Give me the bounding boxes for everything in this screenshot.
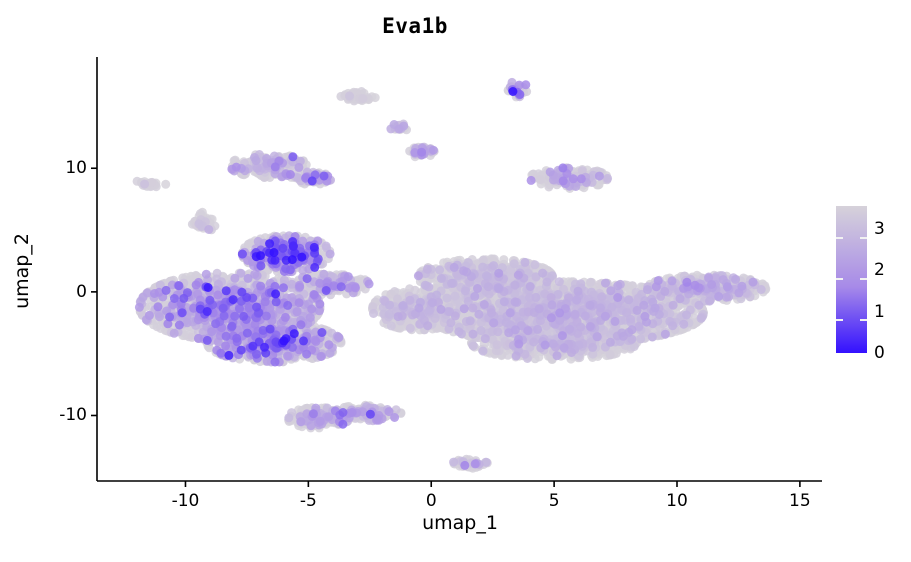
x-tick-label-3: 5 <box>549 491 560 511</box>
x-tick-label-0: -10 <box>172 491 200 511</box>
colorbar-tick-1 <box>836 319 843 321</box>
expression-colorbar <box>836 206 867 353</box>
y-tick-label-1: 0 <box>31 282 87 302</box>
x-tick-label-1: -5 <box>300 491 317 511</box>
colorbar-tick-3 <box>836 237 843 239</box>
scatter-points-layer <box>133 78 771 473</box>
colorbar-label-0: 0 <box>874 343 885 363</box>
colorbar-tick-1-right <box>860 319 867 321</box>
x-tick-label-2: 0 <box>426 491 437 511</box>
x-tick-label-5: 15 <box>789 491 811 511</box>
colorbar-tick-3-right <box>860 237 867 239</box>
x-axis-label: umap_1 <box>97 512 823 534</box>
y-tick-label-0: -10 <box>31 405 87 425</box>
colorbar-tick-2-right <box>860 278 867 280</box>
scatter-plot-svg <box>0 0 911 562</box>
y-axis-label: umap_2 <box>11 211 33 331</box>
umap-figure-canvas: Eva1b -10-5051015-10010 umap_1 umap_2 01… <box>0 0 911 562</box>
colorbar-tick-2 <box>836 278 843 280</box>
colorbar-label-1: 1 <box>874 302 885 322</box>
x-tick-label-4: 10 <box>666 491 688 511</box>
y-tick-label-2: 10 <box>31 158 87 178</box>
colorbar-label-2: 2 <box>874 260 885 280</box>
colorbar-label-3: 3 <box>874 219 885 239</box>
